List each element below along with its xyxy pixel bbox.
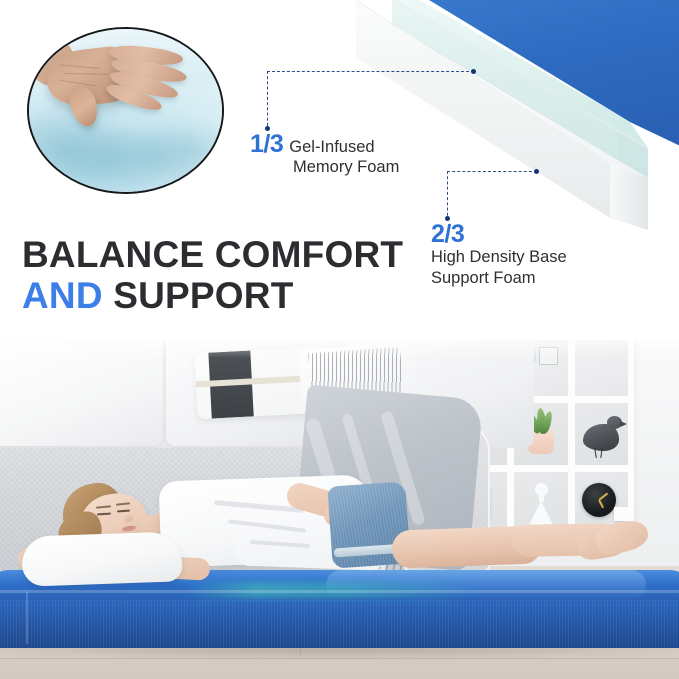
lifestyle-photo-scene: 17 37: [0, 318, 679, 679]
person-lying-on-mattress: [0, 318, 679, 679]
pillow: [21, 531, 183, 587]
foam-layer-cutaway-diagram: [318, 0, 679, 234]
callout-1-fraction: 1/3: [250, 132, 283, 157]
photo-top-fade: [0, 318, 679, 358]
callout-base-foam: 2/3 High Density Base Support Foam: [431, 222, 641, 289]
hand-on-foam-inset: [27, 27, 224, 194]
headline: BALANCE COMFORT AND SUPPORT: [22, 234, 403, 316]
callout-1-label-line1: Gel-Infused: [289, 137, 374, 157]
callout-2-label-line1: High Density Base: [431, 247, 641, 268]
leader-dot-base: [534, 169, 539, 174]
product-feature-image: 1/3 Gel-Infused Memory Foam 2/3 High Den…: [0, 0, 679, 679]
hand-illustration: [47, 43, 197, 135]
top-info-panel: 1/3 Gel-Infused Memory Foam 2/3 High Den…: [0, 0, 679, 340]
callout-2-label-line2: Support Foam: [431, 268, 641, 289]
headline-line-1: BALANCE COMFORT: [22, 234, 403, 275]
leader-dot-gel: [471, 69, 476, 74]
headline-line-2-rest: SUPPORT: [113, 275, 293, 316]
callout-1-label-line2: Memory Foam: [293, 157, 450, 178]
callout-2-fraction: 2/3: [431, 222, 641, 247]
callout-gel-foam: 1/3 Gel-Infused Memory Foam: [250, 132, 450, 178]
headline-accent-word: AND: [22, 275, 103, 316]
headline-line-2: AND SUPPORT: [22, 275, 403, 316]
